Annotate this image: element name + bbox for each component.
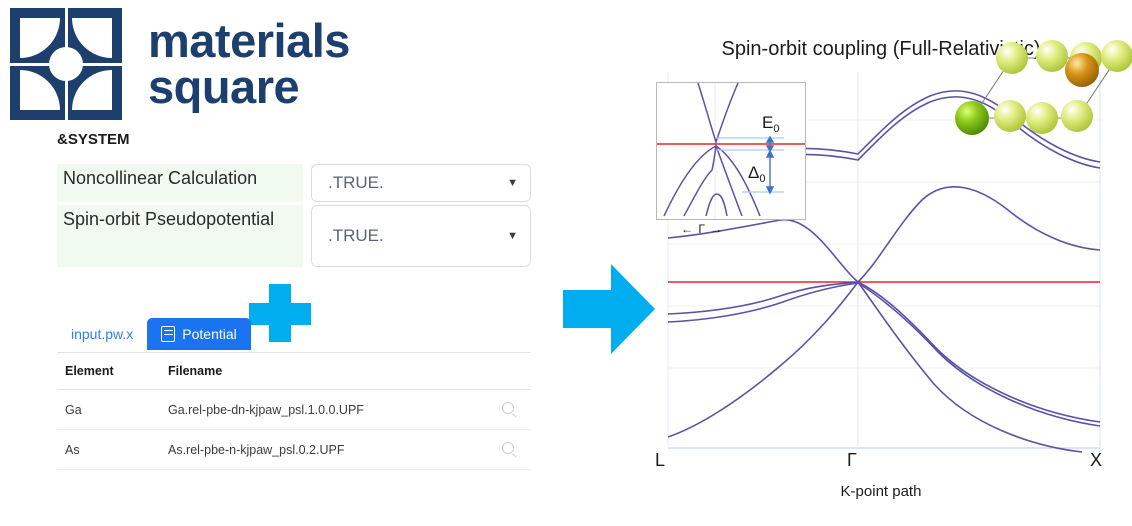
tab-input-pw-x[interactable]: input.pw.x [57, 318, 147, 350]
search-icon[interactable] [502, 442, 514, 454]
plus-icon [249, 284, 311, 342]
row-action[interactable] [477, 430, 531, 470]
select-value-noncollinear: .TRUE. [328, 173, 384, 193]
brand-line-1: materials [148, 18, 350, 64]
brand-logo: materials square [10, 8, 350, 120]
tab-bar: input.pw.x Potential [57, 318, 251, 350]
tick-label-gamma: Γ [847, 450, 857, 471]
label-spin-orbit-pseudopotential: Spin-orbit Pseudopotential [57, 205, 303, 267]
table-row: Ga Ga.rel-pbe-dn-kjpaw_psl.1.0.0.UPF [57, 390, 531, 430]
column-header-action [477, 353, 531, 390]
materials-square-logo-icon [10, 8, 122, 120]
tick-label-L: L [655, 450, 665, 471]
cell-element: As [57, 430, 160, 470]
select-value-spinorbit: .TRUE. [328, 226, 384, 246]
pseudopotential-table: Element Filename Ga Ga.rel-pbe-dn-kjpaw_… [57, 352, 531, 470]
chevron-down-icon: ▼ [507, 177, 518, 189]
x-axis-label: K-point path [630, 483, 1132, 500]
cell-filename: As.rel-pbe-n-kjpaw_psl.0.2.UPF [160, 430, 477, 470]
form-row-noncollinear: Noncollinear Calculation .TRUE. ▼ [57, 164, 531, 202]
table-header-row: Element Filename [57, 353, 531, 390]
tab-potential[interactable]: Potential [147, 318, 250, 350]
form-row-spinorbit: Spin-orbit Pseudopotential .TRUE. ▼ [57, 205, 531, 267]
inset-gamma-axis-label: ← Γ → [681, 222, 723, 236]
search-icon[interactable] [502, 402, 514, 414]
select-noncollinear-calculation[interactable]: .TRUE. ▼ [311, 164, 531, 202]
inset-zoom-plot: E0 Δ0 [656, 82, 806, 230]
select-spin-orbit-pseudopotential[interactable]: .TRUE. ▼ [311, 205, 531, 267]
label-noncollinear-calculation: Noncollinear Calculation [57, 164, 303, 202]
settings-panel: materials square &SYSTEM Noncollinear Ca… [0, 0, 560, 526]
tick-label-X: X [1090, 450, 1102, 471]
cell-element: Ga [57, 390, 160, 430]
band-structure-figure: Spin-orbit coupling (Full-Relativistic) [630, 0, 1132, 526]
brand-wordmark: materials square [148, 18, 350, 110]
crystal-structure-render [942, 20, 1132, 145]
brand-line-2: square [148, 64, 350, 110]
table-row: As As.rel-pbe-n-kjpaw_psl.0.2.UPF [57, 430, 531, 470]
document-icon [161, 326, 175, 342]
column-header-element: Element [57, 353, 160, 390]
atoms [955, 40, 1132, 135]
cell-filename: Ga.rel-pbe-dn-kjpaw_psl.1.0.0.UPF [160, 390, 477, 430]
chevron-down-icon: ▼ [507, 230, 518, 242]
column-header-filename: Filename [160, 353, 477, 390]
section-heading-system: &SYSTEM [57, 131, 130, 148]
tab-potential-label: Potential [182, 326, 236, 342]
row-action[interactable] [477, 390, 531, 430]
